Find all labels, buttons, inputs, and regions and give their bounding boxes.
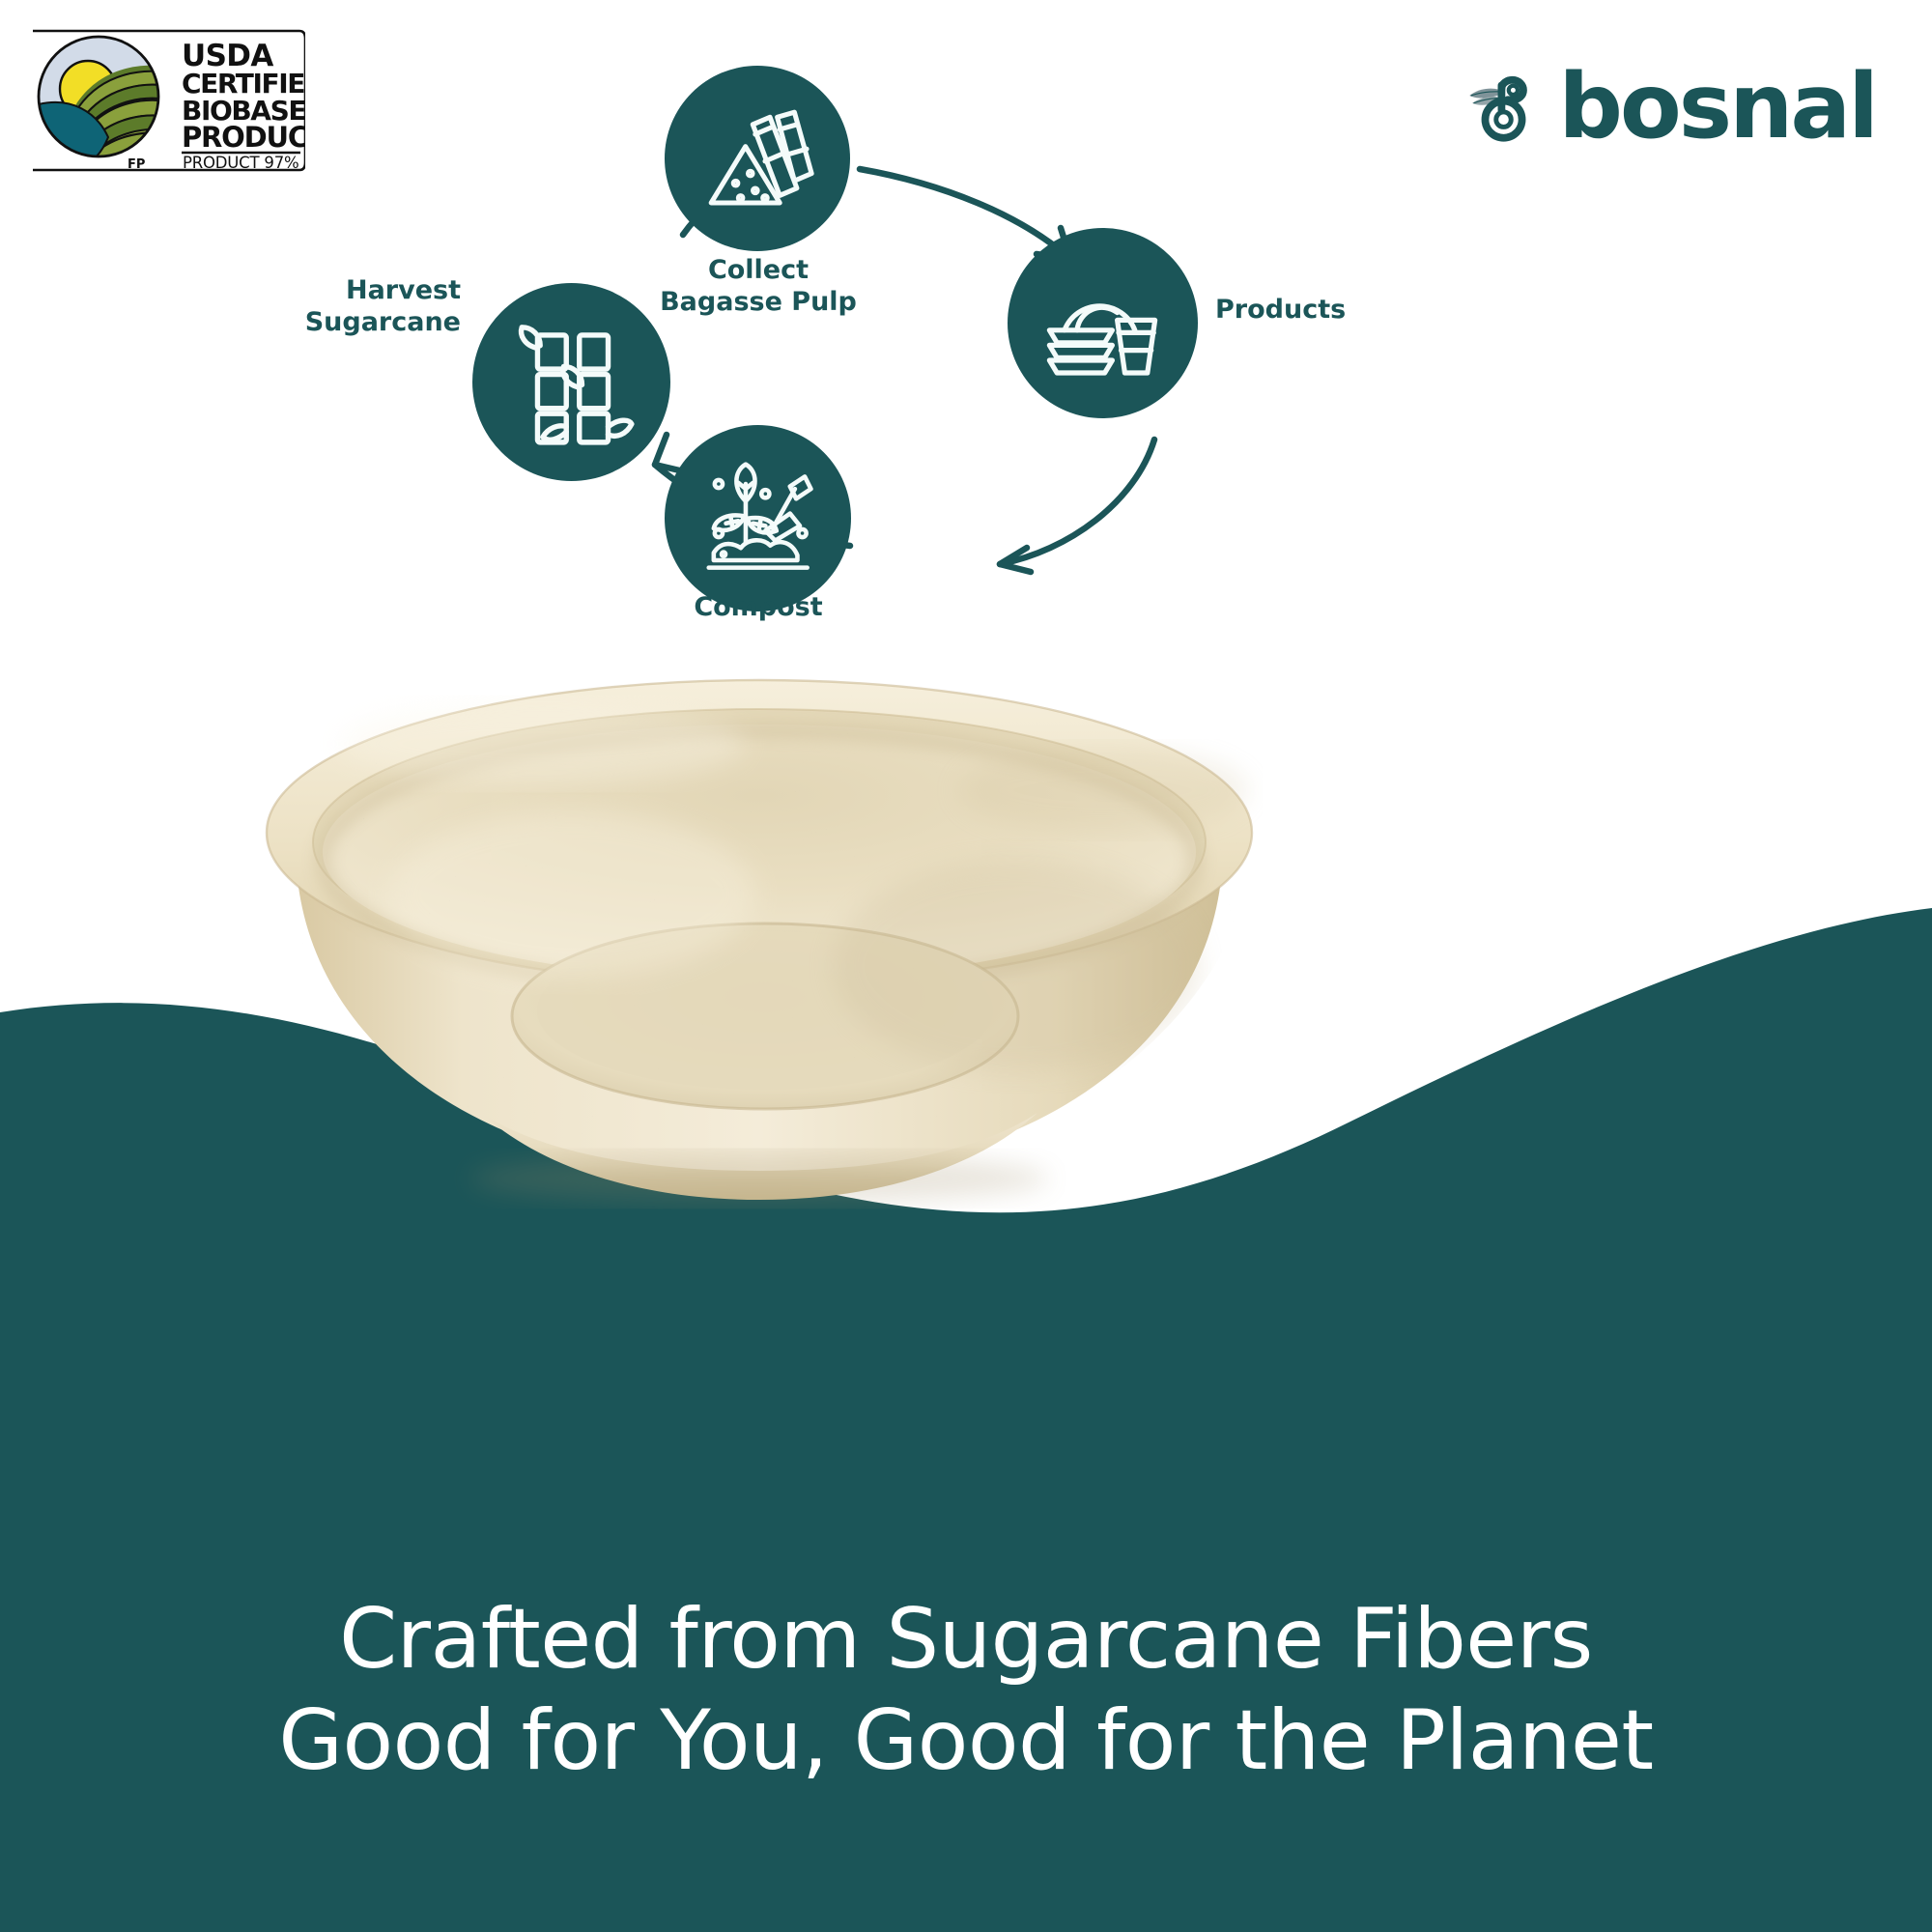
usda-biobased-badge: USDA CERTIFIED BIOBASED PRODUCT PRODUCT …	[27, 23, 305, 178]
infographic-canvas: USDA CERTIFIED BIOBASED PRODUCT PRODUCT …	[0, 0, 1932, 1932]
lifecycle-label-products: Products	[1215, 295, 1466, 327]
brand-logo: bosnal	[1465, 56, 1876, 157]
lifecycle-label-collect: Collect Bagasse Pulp	[618, 255, 898, 319]
usda-subline: PRODUCT 97%	[183, 154, 299, 172]
stacked-bowls-cup-icon	[1039, 260, 1165, 385]
lifecycle-label-compost: Compost	[618, 592, 898, 624]
bagasse-pulp-pile-icon	[696, 98, 819, 220]
lifecycle-node-collect[interactable]	[665, 66, 850, 251]
usda-corner-mark: FP	[128, 157, 145, 172]
sprout-soil-shovel-icon	[696, 457, 819, 580]
brand-wordmark: bosnal	[1558, 62, 1876, 152]
usda-line-4: PRODUCT	[182, 121, 305, 154]
arrow-products-to-compost	[1000, 440, 1154, 564]
bosnal-monogram-icon	[1465, 59, 1552, 156]
sugarcane-stalks-icon	[506, 317, 637, 447]
arrow-collect-to-products	[860, 169, 1070, 259]
lifecycle-node-compost[interactable]	[665, 425, 851, 611]
headline-text: Crafted from Sugarcane Fibers Good for Y…	[0, 1589, 1932, 1792]
lifecycle-label-harvest: Harvest Sugarcane	[205, 275, 461, 339]
lifecycle-node-products[interactable]	[1008, 228, 1198, 418]
